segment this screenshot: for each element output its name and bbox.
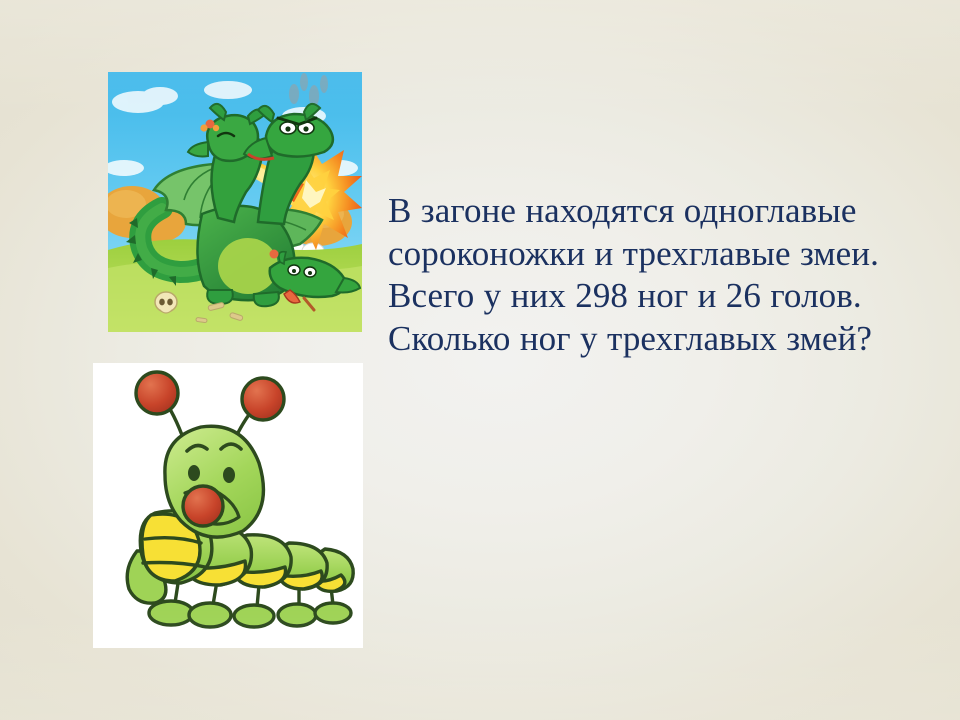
slide-canvas: В загоне находятся одноглавые сороконожк… (0, 0, 960, 720)
caterpillar-nose (183, 486, 223, 526)
skull (155, 292, 177, 313)
caterpillar-image[interactable] (93, 363, 363, 648)
caterpillar-illustration (93, 363, 363, 648)
problem-text: В загоне находятся одноглавые сороконожк… (388, 190, 928, 361)
dragon-illustration (108, 72, 362, 332)
dragon-image[interactable] (108, 72, 362, 332)
